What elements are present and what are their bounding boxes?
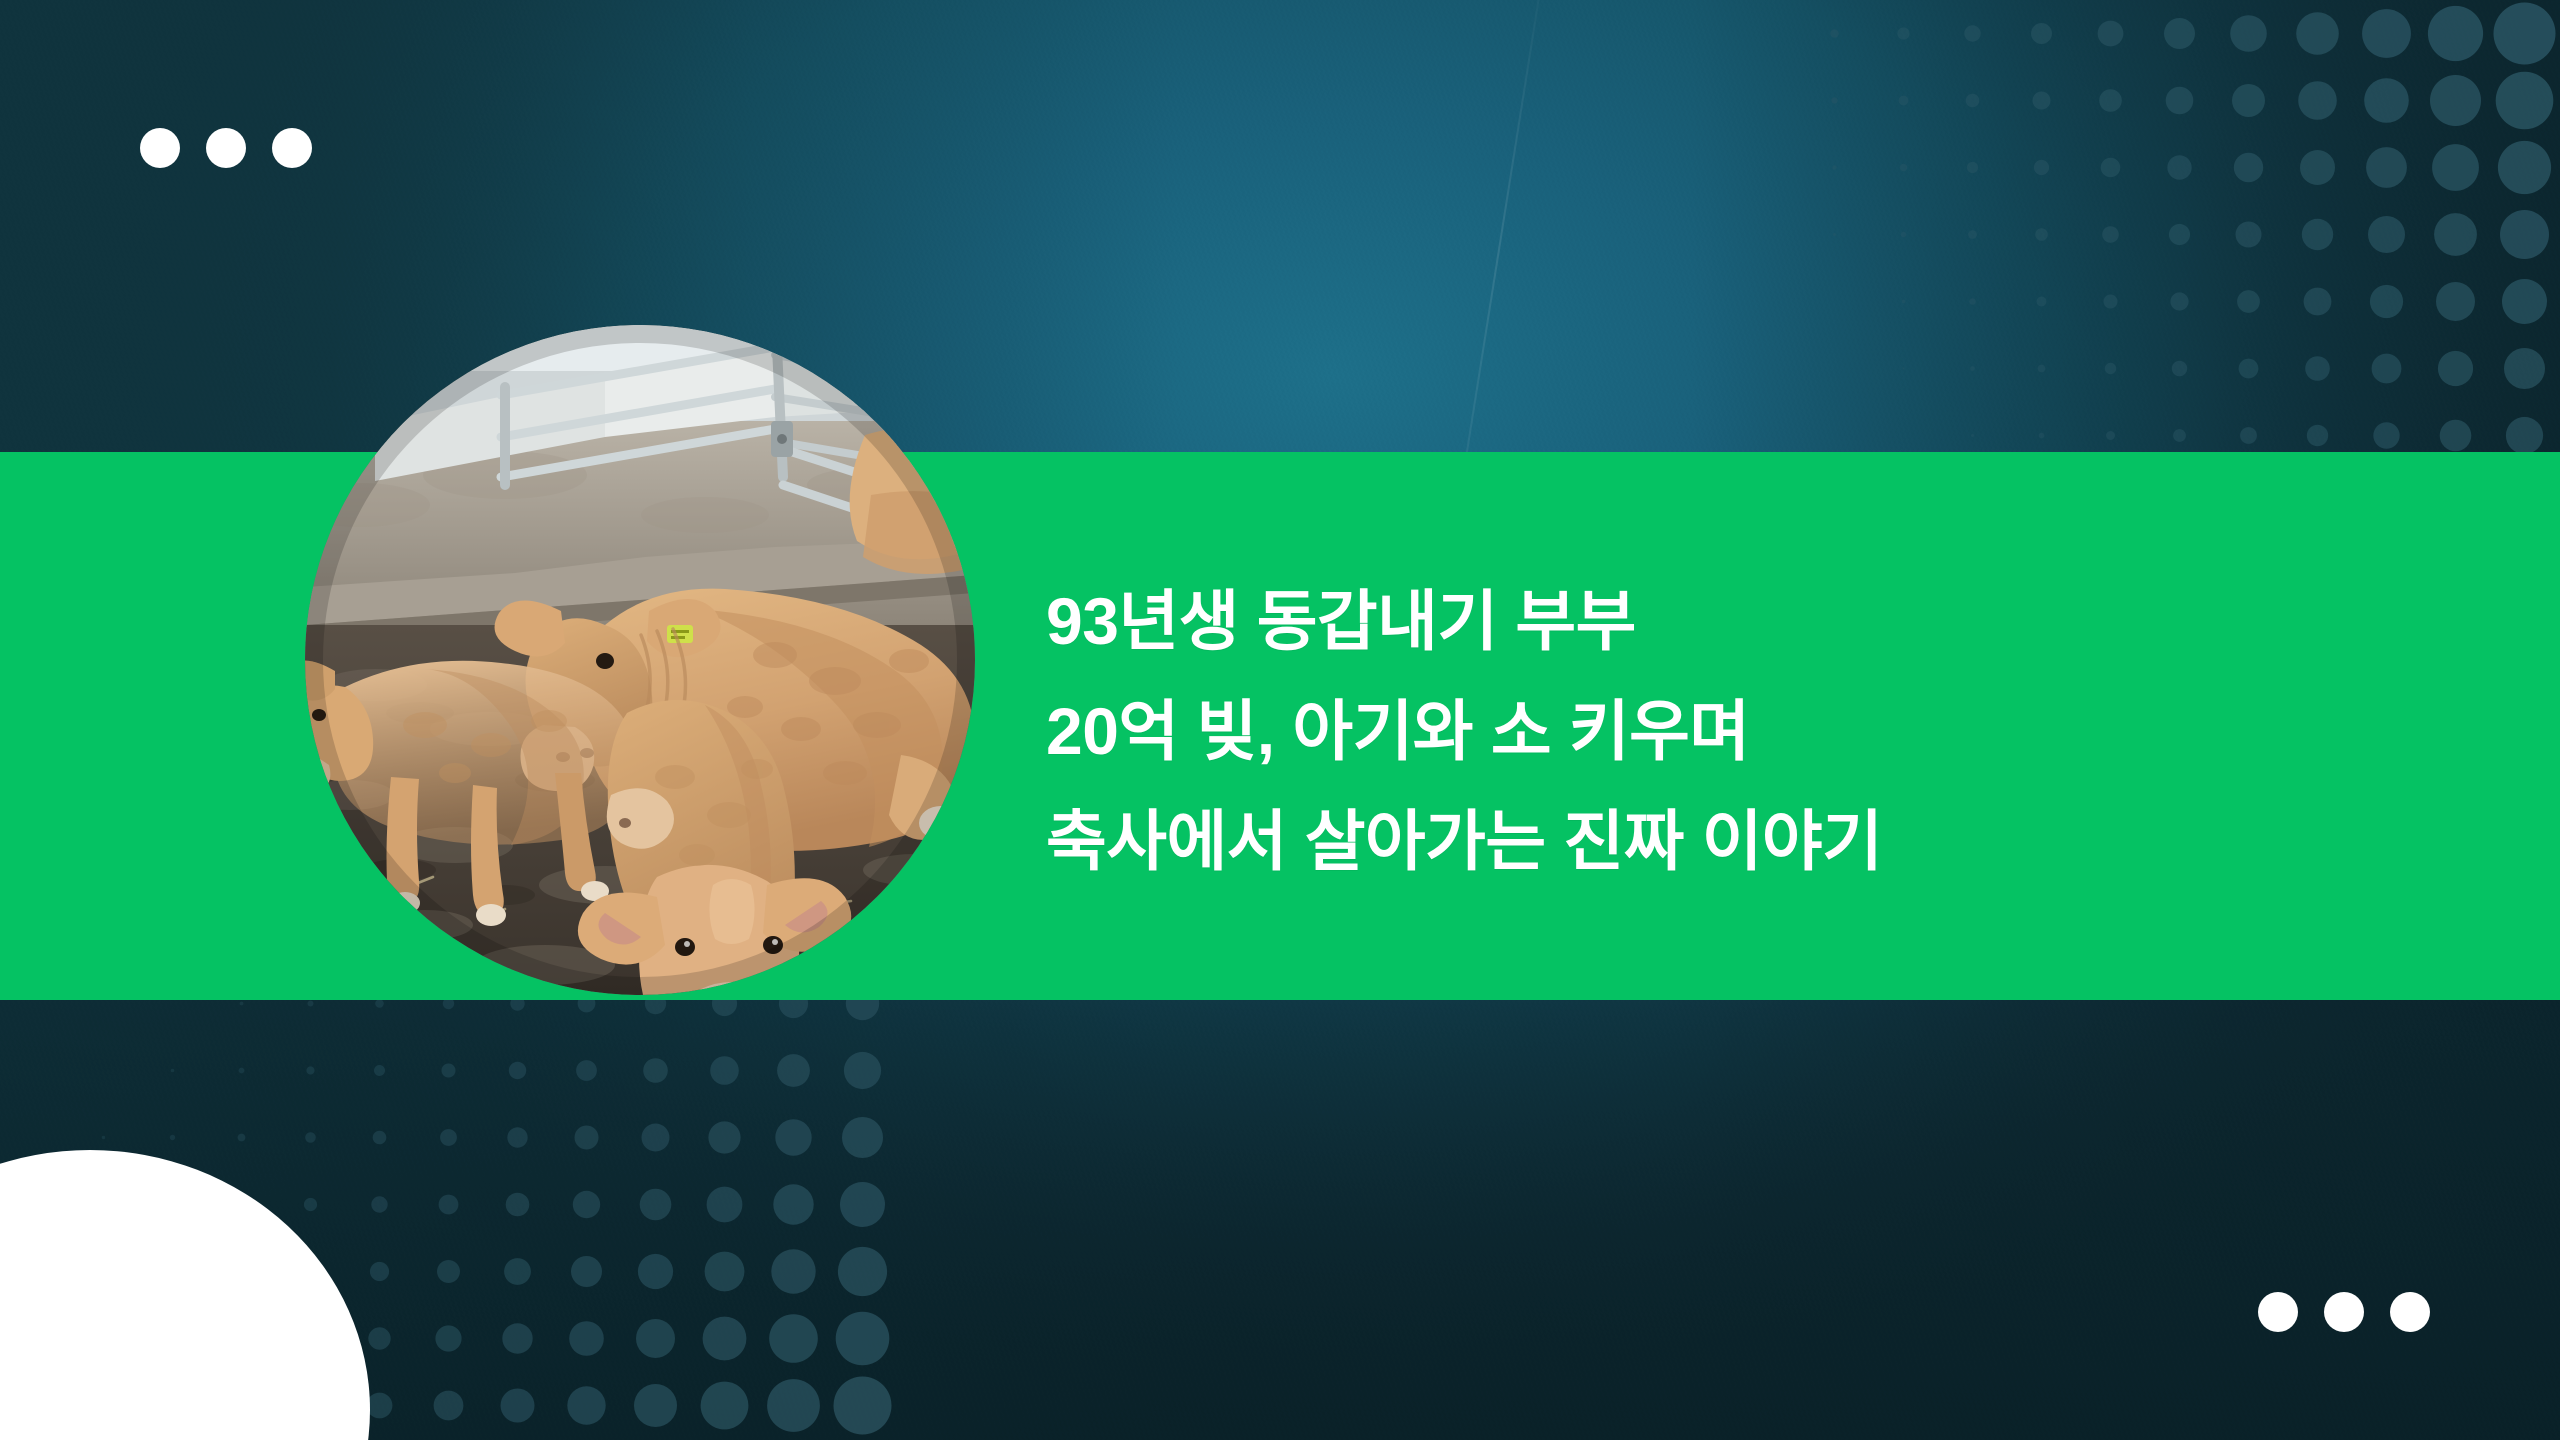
headline-line-2: 20억 빚, 아기와 소 키우며 — [1046, 676, 2446, 786]
dot — [272, 128, 312, 168]
dot — [2390, 1292, 2430, 1332]
three-dots-icon — [140, 128, 312, 168]
headline-block: 93년생 동갑내기 부부 20억 빚, 아기와 소 키우며 축사에서 살아가는 … — [1046, 566, 2446, 896]
thumbnail-canvas: 93년생 동갑내기 부부 20억 빚, 아기와 소 키우며 축사에서 살아가는 … — [0, 0, 2560, 1440]
headline-line-3: 축사에서 살아가는 진짜 이야기 — [1046, 786, 2446, 896]
headline-line-1: 93년생 동갑내기 부부 — [1046, 566, 2446, 676]
dot — [140, 128, 180, 168]
dot — [2258, 1292, 2298, 1332]
circular-photo-icon — [305, 325, 975, 995]
dot — [206, 128, 246, 168]
dot — [2324, 1292, 2364, 1332]
three-dots-icon — [2258, 1292, 2430, 1332]
